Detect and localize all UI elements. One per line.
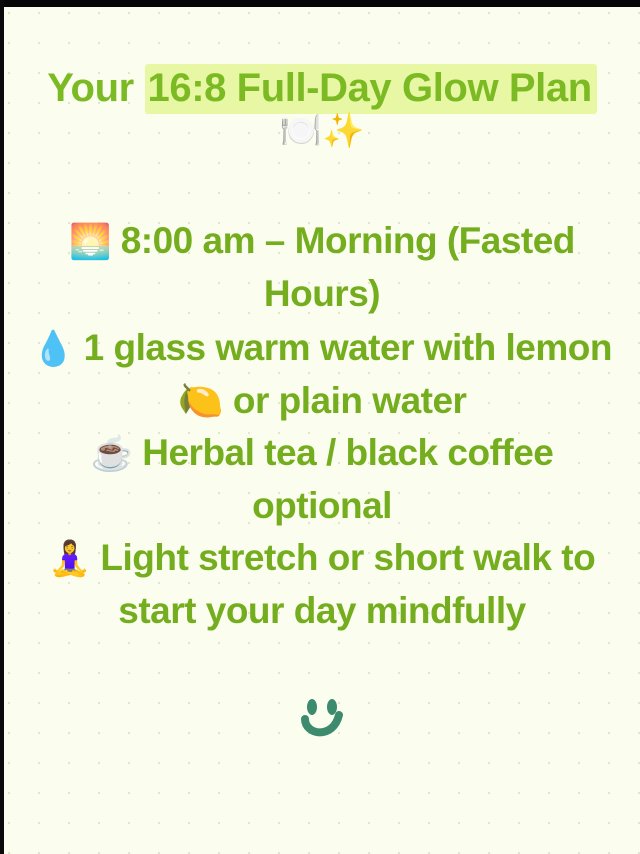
hot-beverage-icon: ☕ xyxy=(91,435,133,473)
droplet-icon: 💧 xyxy=(32,330,74,368)
page-title: Your 16:8 Full-Day Glow Plan xyxy=(22,65,622,111)
poster-content: Your 16:8 Full-Day Glow Plan 🍽️✨ 🌅 8:00 … xyxy=(4,7,640,854)
schedule-heading-morning: 🌅 8:00 am – Morning (Fasted Hours) xyxy=(22,215,622,320)
woman-in-lotus-position-icon: 🧘‍♀️ xyxy=(49,540,91,578)
poster-canvas: Your 16:8 Full-Day Glow Plan 🍽️✨ 🌅 8:00 … xyxy=(0,0,640,854)
title-lead-text: Your xyxy=(47,66,144,110)
frame-bar-top xyxy=(0,0,640,7)
title-emoji-row: 🍽️✨ xyxy=(22,109,622,153)
sunrise-icon: 🌅 xyxy=(69,223,111,261)
list-item-stretch-walk-text: Light stretch or short walk to start you… xyxy=(100,537,595,631)
body-block: 🌅 8:00 am – Morning (Fasted Hours) 💧 1 g… xyxy=(22,215,622,637)
list-item-water: 💧 1 glass warm water with lemon 🍋 or pla… xyxy=(22,322,622,427)
title-highlighted-text: 16:8 Full-Day Glow Plan xyxy=(145,64,597,114)
footer-block xyxy=(22,693,622,745)
title-block: Your 16:8 Full-Day Glow Plan 🍽️✨ xyxy=(22,65,622,153)
frame-bar-left xyxy=(0,0,4,854)
schedule-heading-text: 8:00 am – Morning (Fasted Hours) xyxy=(121,220,575,314)
list-item-tea-coffee: ☕ Herbal tea / black coffee optional xyxy=(22,427,622,532)
list-item-water-text: 1 glass warm water with lemon 🍋 or plain… xyxy=(84,327,612,421)
list-item-tea-coffee-text: Herbal tea / black coffee optional xyxy=(142,432,553,526)
list-item-stretch-walk: 🧘‍♀️ Light stretch or short walk to star… xyxy=(22,532,622,637)
smiley-face-icon xyxy=(292,693,352,745)
